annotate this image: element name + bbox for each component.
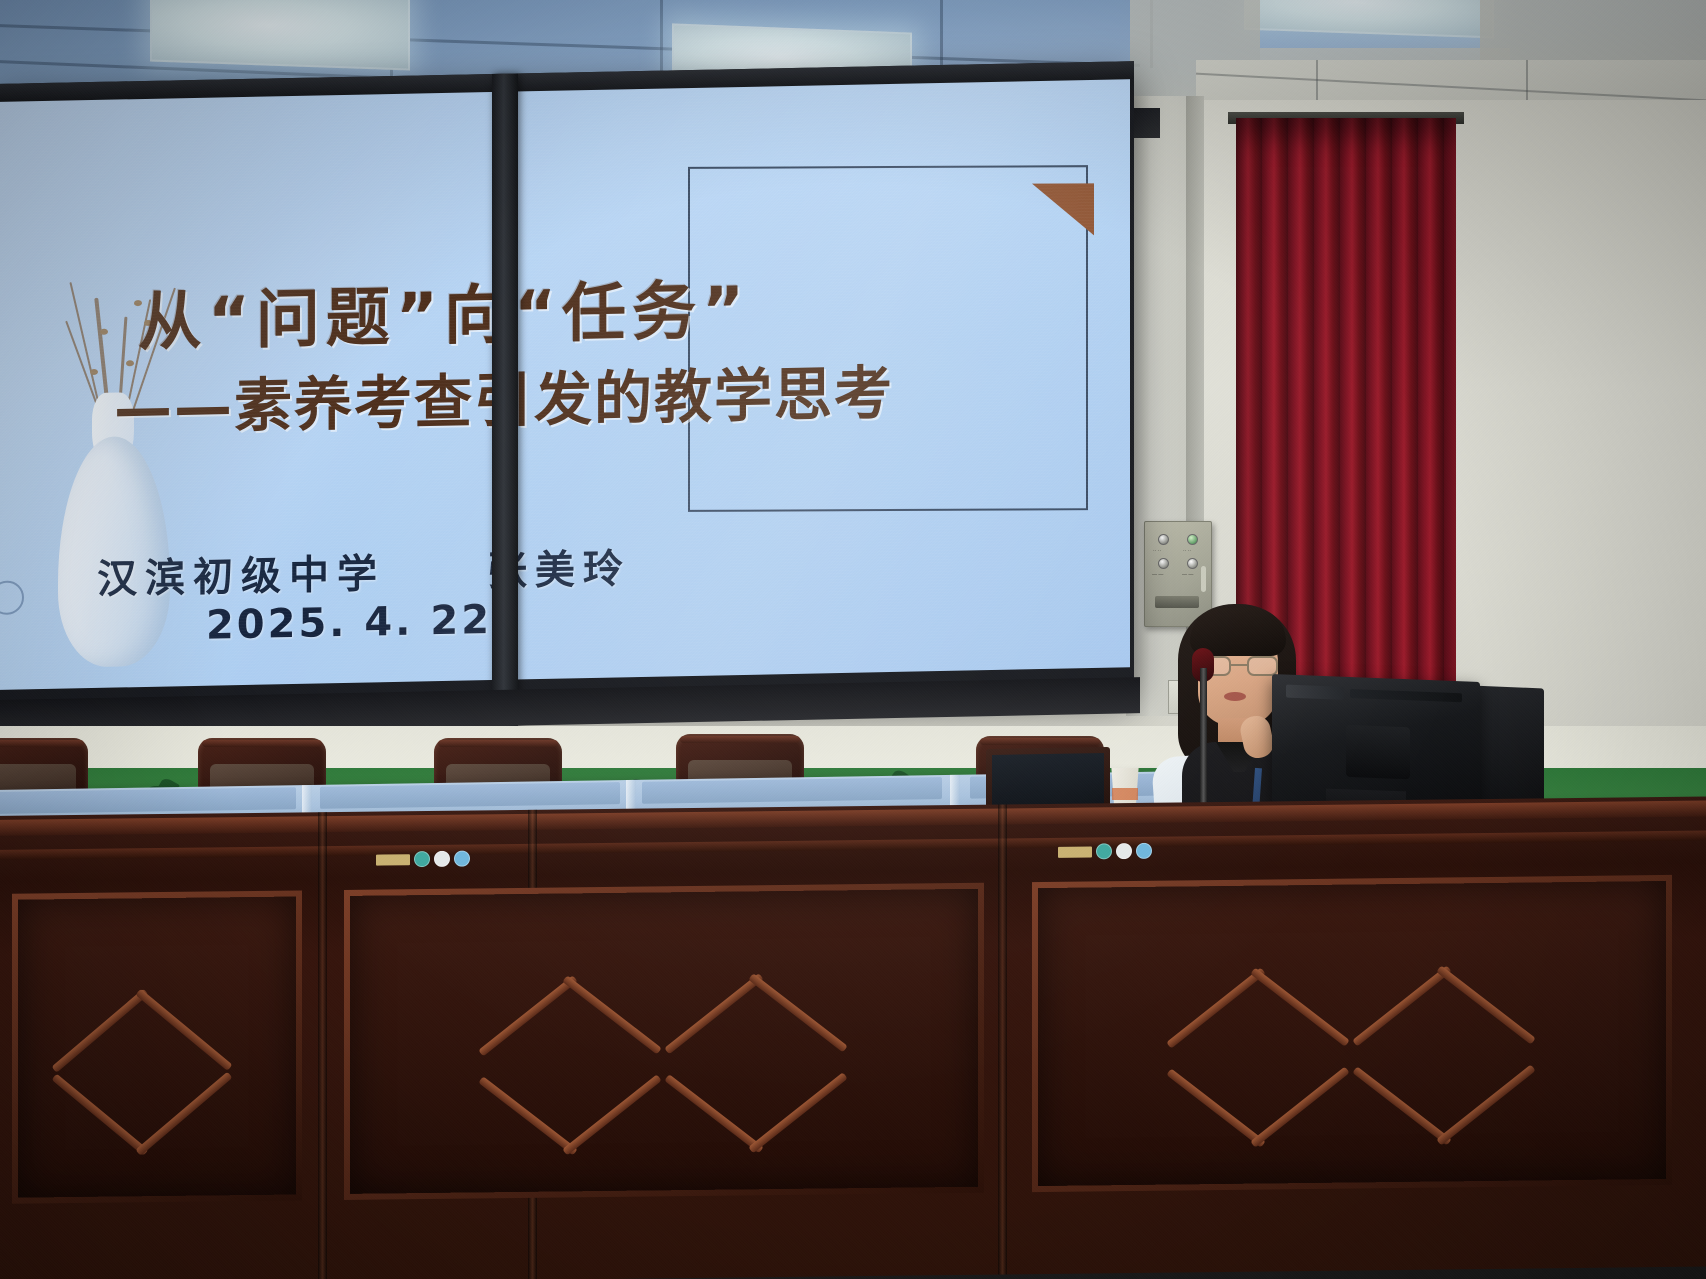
desk-badge	[1136, 843, 1152, 859]
desk-panel	[344, 883, 984, 1200]
desk-sticker-group	[376, 851, 470, 868]
control-panel-hook	[1201, 566, 1206, 592]
desk-front	[0, 796, 1706, 1279]
desk-badge	[434, 851, 450, 867]
desk-name-tag	[376, 854, 410, 865]
desk-badge	[414, 851, 430, 867]
desk-badge	[454, 851, 470, 867]
desk-sticker-group	[1058, 843, 1152, 860]
monitor-mount	[1346, 725, 1410, 779]
mouth	[1224, 692, 1246, 701]
projection-screen: 从“问题”向“任务” ——素养考查引发的教学思考 汉滨初级中学 张美玲 2025…	[0, 61, 1134, 714]
slide-presenter-school: 汉滨初级中学	[97, 550, 385, 603]
desk-badge	[1116, 843, 1132, 859]
desk-panel	[1032, 875, 1672, 1192]
paper-cup-band	[1112, 788, 1138, 800]
desk-badge	[1096, 843, 1112, 859]
desk-name-tag	[1058, 846, 1092, 857]
ceiling-light-panel	[150, 0, 410, 71]
monitor-vent	[1350, 689, 1462, 702]
conference-room-scene: ·· ·· ·· ·· — — — —	[0, 0, 1706, 1279]
monitor-logo	[1286, 685, 1344, 700]
desk-panel	[12, 890, 302, 1203]
slide-decor-triangle	[1032, 183, 1094, 235]
presentation-slide: 从“问题”向“任务” ——素养考查引发的教学思考 汉滨初级中学 张美玲 2025…	[0, 66, 1130, 690]
